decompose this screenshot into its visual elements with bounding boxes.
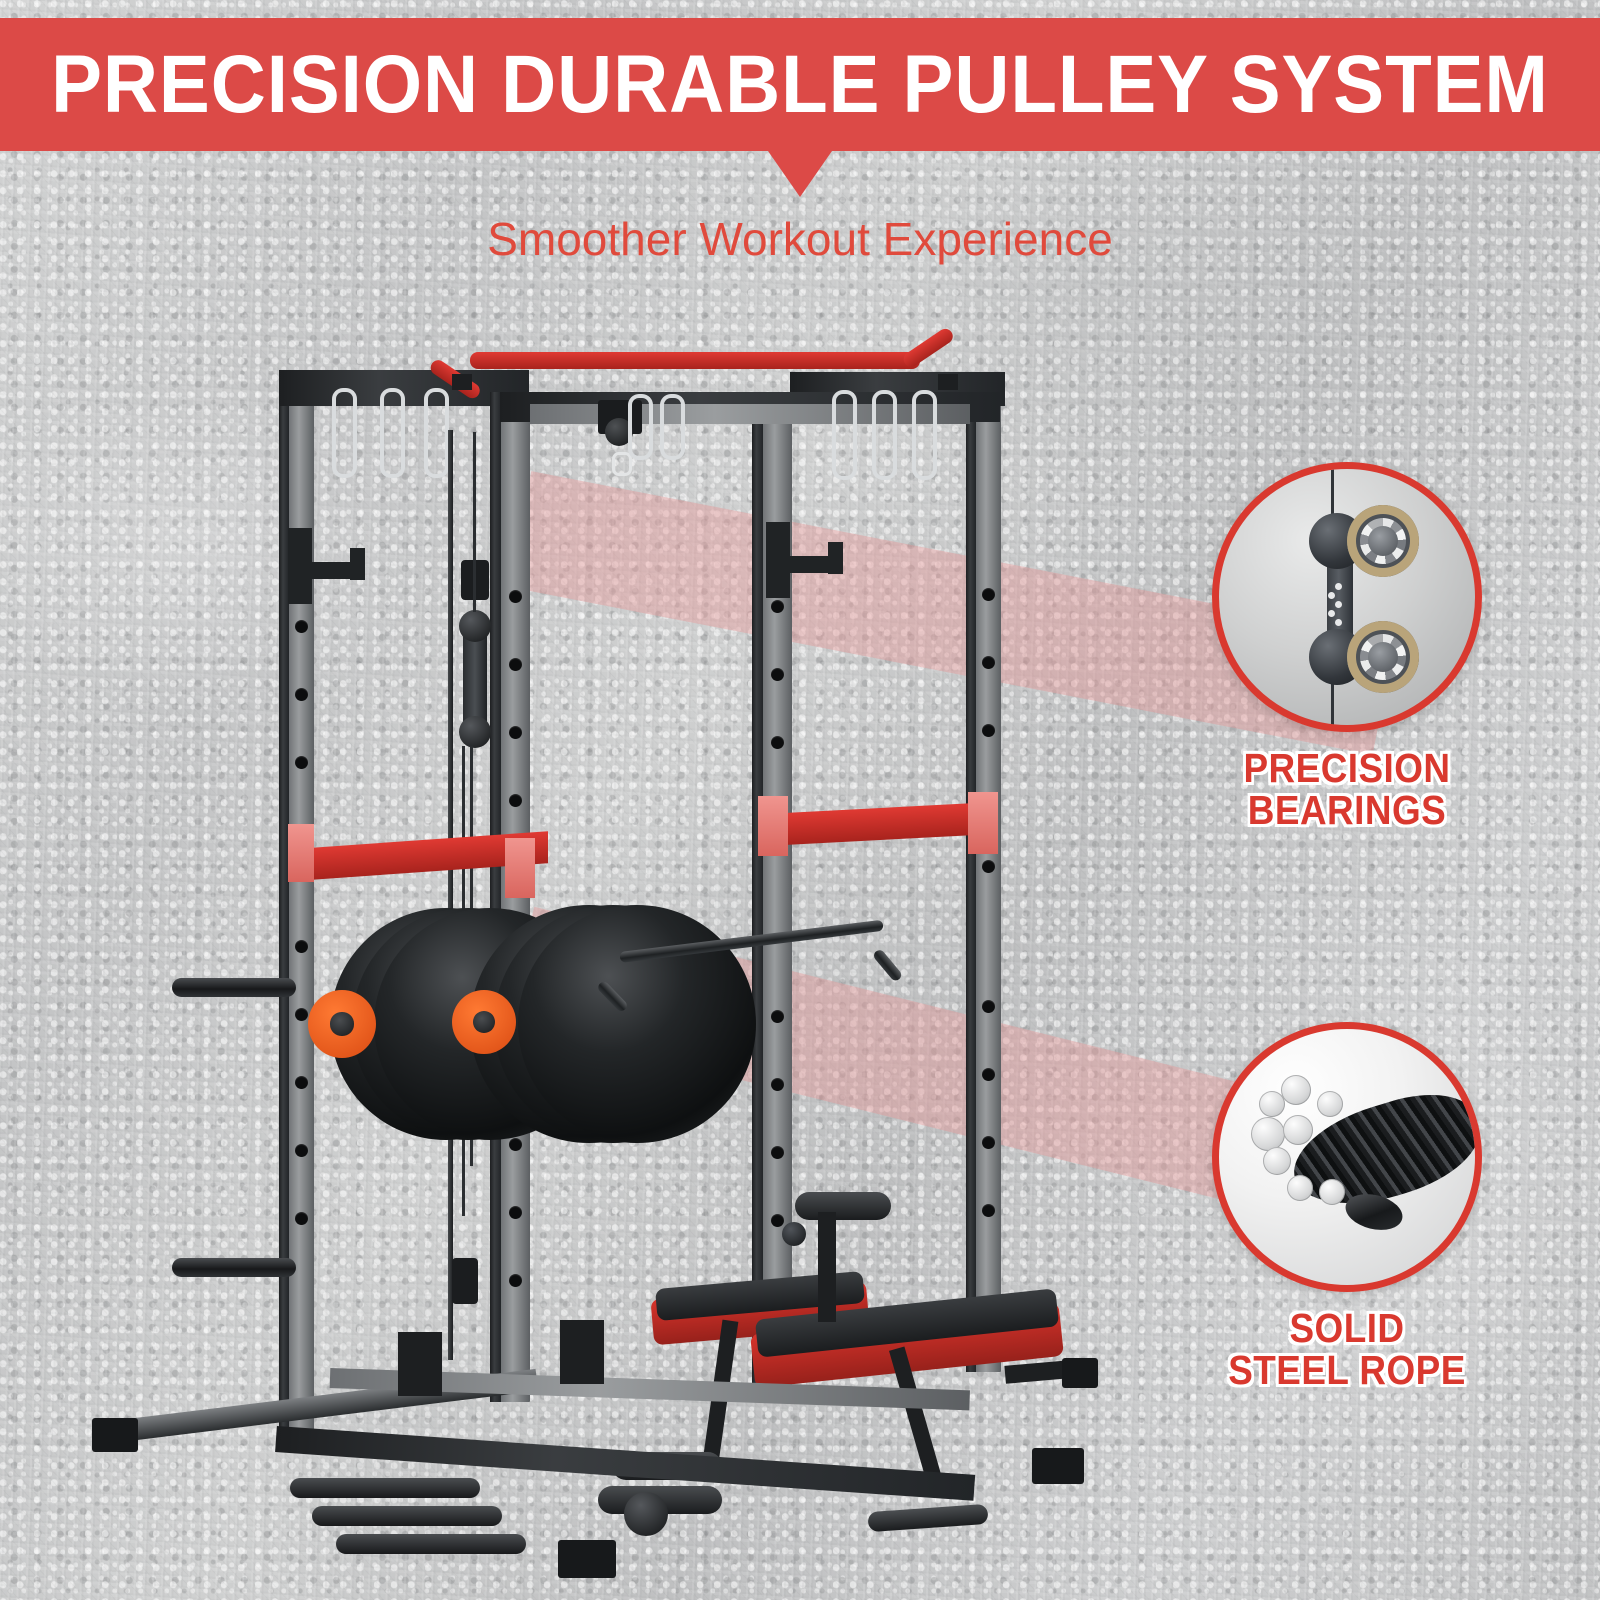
pullup-bar-right-angle (901, 326, 956, 370)
callout-label-rope: SOLID STEEL ROPE (1226, 1308, 1469, 1392)
leg-roller-upper (795, 1192, 891, 1220)
safety-bar-left-bracket-front (505, 838, 535, 898)
base-foot-right (1032, 1448, 1084, 1484)
header-banner: PRECISION DURABLE PULLEY SYSTEM (0, 18, 1600, 151)
rope-cut-face-f (1317, 1091, 1343, 1117)
rope-cut-face-e (1263, 1147, 1291, 1175)
rope-cut-face-g (1287, 1175, 1313, 1201)
pullup-bar-main (470, 352, 920, 369)
top-front-beam-face (530, 404, 970, 424)
lat-bar-elbow-right (872, 948, 904, 983)
top-pulley-eyelet (612, 452, 632, 476)
leg-roller-pivot (782, 1222, 806, 1246)
bearing-race-bottom (1347, 621, 1419, 693)
pullup-bar-left-mount (452, 374, 472, 390)
base-foot-center (558, 1540, 616, 1578)
product-marketing-image: PRECISION DURABLE PULLEY SYSTEM Smoother… (0, 0, 1600, 1600)
leg-roller-post (818, 1212, 836, 1322)
bench-rear-foot (1062, 1358, 1098, 1388)
base-gusset-left (398, 1332, 442, 1396)
pullup-bar-right-mount (938, 374, 958, 390)
callout-label-bearings: PRECISION BEARINGS (1226, 748, 1469, 832)
front-left-upright-edge (490, 392, 501, 1402)
safety-bar-left-bracket-rear (288, 824, 314, 882)
safety-bar-right (770, 802, 990, 846)
cable-guide-rod (448, 430, 453, 1360)
base-foot-left (92, 1418, 138, 1452)
callout-circle-rope (1212, 1022, 1482, 1292)
rope-cut-face-c (1251, 1117, 1285, 1151)
rope-cut-face-h (1319, 1179, 1345, 1205)
plate-peg-upper (172, 978, 296, 997)
callout-circle-bearings (1212, 462, 1482, 732)
lower-pulley-block (452, 1258, 478, 1304)
rear-right-upright-edge (966, 372, 976, 1372)
pulley-carriage-top-wheel (459, 610, 491, 642)
cable-upper (473, 432, 476, 612)
safety-bar-right-bracket-front (758, 796, 788, 856)
pulley-carriage-bottom-wheel (459, 716, 491, 748)
front-right-upright-edge (752, 398, 763, 1398)
subtitle-text: Smoother Workout Experience (0, 212, 1600, 266)
plate-peg-lower (172, 1258, 296, 1277)
banner-title: PRECISION DURABLE PULLEY SYSTEM (56, 18, 1544, 151)
safety-bar-right-bracket-rear (968, 792, 998, 854)
leg-roller-tube-end (624, 1492, 668, 1536)
rope-cut-face-d (1283, 1115, 1313, 1145)
bench-front-foot-bar (867, 1504, 988, 1532)
pulley-carriage-body (463, 630, 487, 726)
base-gusset-right (560, 1320, 604, 1384)
callout-precision-bearings: PRECISION BEARINGS (1212, 462, 1482, 832)
callout-solid-steel-rope: SOLID STEEL ROPE (1212, 1022, 1482, 1392)
rope-cut-face-b (1281, 1075, 1311, 1105)
bearing-race-top (1347, 505, 1419, 577)
